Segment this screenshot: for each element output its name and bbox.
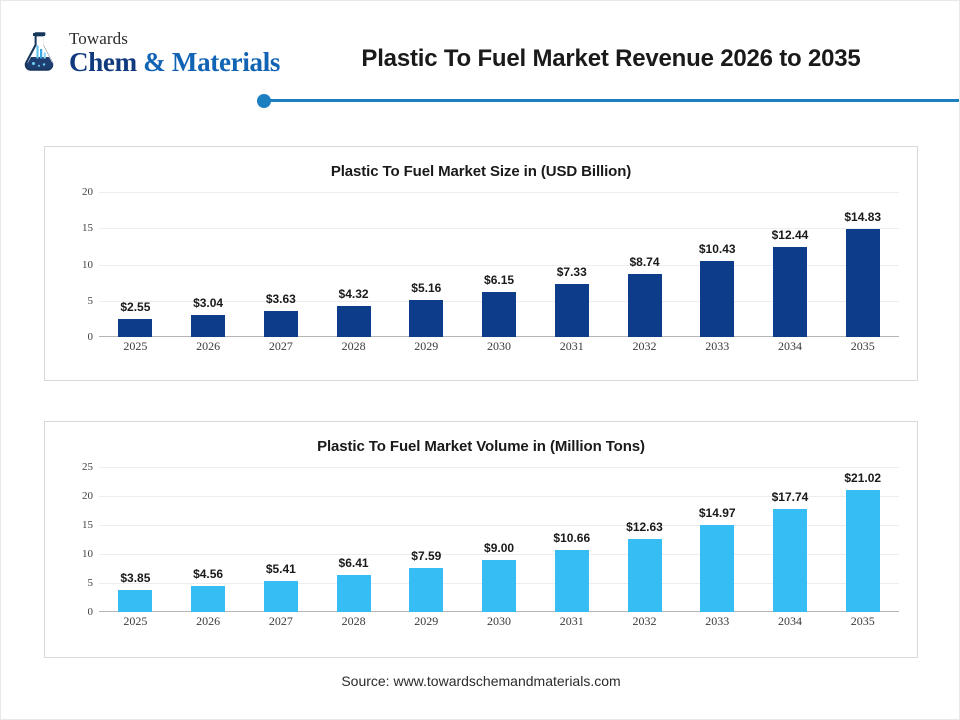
bar[interactable] bbox=[337, 306, 371, 337]
x-axis-tick-label: 2027 bbox=[244, 614, 317, 629]
bar-value-label: $9.00 bbox=[484, 541, 514, 555]
header-divider bbox=[1, 93, 960, 109]
flask-icon bbox=[15, 29, 63, 77]
bar-value-label: $12.63 bbox=[626, 520, 663, 534]
y-axis-tick-label: 20 bbox=[82, 186, 93, 198]
bar-value-label: $5.41 bbox=[266, 562, 296, 576]
bar[interactable] bbox=[118, 319, 152, 337]
chart-panel-market-size: Plastic To Fuel Market Size in (USD Bill… bbox=[44, 146, 918, 381]
divider-line bbox=[269, 99, 960, 102]
bar-value-label: $21.02 bbox=[844, 471, 881, 485]
bar-slot: $6.15 bbox=[463, 192, 536, 337]
x-axis-tick-label: 2033 bbox=[681, 614, 754, 629]
y-axis-tick-label: 10 bbox=[82, 259, 93, 271]
source-caption: Source: www.towardschemandmaterials.com bbox=[1, 673, 960, 689]
bar-slot: $6.41 bbox=[317, 467, 390, 612]
bar[interactable] bbox=[555, 284, 589, 337]
bar[interactable] bbox=[773, 247, 807, 337]
bar-slot: $3.63 bbox=[244, 192, 317, 337]
chart-title: Plastic To Fuel Market Volume in (Millio… bbox=[45, 422, 917, 455]
bar-value-label: $10.43 bbox=[699, 242, 736, 256]
x-axis-tick-label: 2028 bbox=[317, 614, 390, 629]
brand-line-chem-materials: Chem & Materials bbox=[69, 49, 280, 76]
bar[interactable] bbox=[191, 315, 225, 337]
bar-slot: $2.55 bbox=[99, 192, 172, 337]
bar-value-label: $4.56 bbox=[193, 567, 223, 581]
y-axis-tick-label: 10 bbox=[82, 548, 93, 560]
bar[interactable] bbox=[846, 490, 880, 612]
x-axis-tick-label: 2032 bbox=[608, 339, 681, 354]
y-axis-ticks: 2520151050 bbox=[63, 467, 99, 612]
bar[interactable] bbox=[628, 539, 662, 612]
bar[interactable] bbox=[555, 550, 589, 612]
bar-slot: $5.16 bbox=[390, 192, 463, 337]
y-axis-tick-label: 5 bbox=[88, 577, 94, 589]
bar-slot: $7.33 bbox=[535, 192, 608, 337]
bar[interactable] bbox=[846, 229, 880, 337]
bar-value-label: $5.16 bbox=[411, 281, 441, 295]
x-axis-tick-label: 2031 bbox=[535, 614, 608, 629]
brand-line-towards: Towards bbox=[69, 30, 280, 47]
y-axis-tick-label: 25 bbox=[82, 461, 93, 473]
bar[interactable] bbox=[700, 525, 734, 612]
bar-slot: $4.32 bbox=[317, 192, 390, 337]
bar-slot: $21.02 bbox=[826, 467, 899, 612]
bar-slot: $8.74 bbox=[608, 192, 681, 337]
bar[interactable] bbox=[191, 586, 225, 612]
y-axis-tick-label: 0 bbox=[88, 606, 94, 618]
bar-value-label: $12.44 bbox=[772, 228, 809, 242]
plot-area: 2520151050 $3.85$4.56$5.41$6.41$7.59$9.0… bbox=[63, 467, 899, 637]
bar-value-label: $14.97 bbox=[699, 506, 736, 520]
bar[interactable] bbox=[264, 311, 298, 337]
bar-slot: $17.74 bbox=[754, 467, 827, 612]
bar[interactable] bbox=[264, 581, 298, 612]
bar-slot: $5.41 bbox=[244, 467, 317, 612]
y-axis-tick-label: 15 bbox=[82, 519, 93, 531]
x-axis-ticks: 2025202620272028202920302031203220332034… bbox=[99, 339, 899, 354]
y-axis-tick-label: 0 bbox=[88, 331, 94, 343]
x-axis-tick-label: 2028 bbox=[317, 339, 390, 354]
bar-slot: $14.83 bbox=[826, 192, 899, 337]
bar-slot: $3.85 bbox=[99, 467, 172, 612]
x-axis-tick-label: 2034 bbox=[754, 614, 827, 629]
bar-slot: $10.43 bbox=[681, 192, 754, 337]
bar-slot: $3.04 bbox=[172, 192, 245, 337]
x-axis-tick-label: 2029 bbox=[390, 614, 463, 629]
divider-dot bbox=[257, 94, 271, 108]
chart-panel-market-volume: Plastic To Fuel Market Volume in (Millio… bbox=[44, 421, 918, 658]
bar[interactable] bbox=[773, 509, 807, 612]
bar-value-label: $2.55 bbox=[120, 300, 150, 314]
x-axis-ticks: 2025202620272028202920302031203220332034… bbox=[99, 614, 899, 629]
bar-value-label: $10.66 bbox=[553, 531, 590, 545]
y-axis-tick-label: 20 bbox=[82, 490, 93, 502]
plot-area: 20151050 $2.55$3.04$3.63$4.32$5.16$6.15$… bbox=[63, 192, 899, 362]
x-axis-tick-label: 2031 bbox=[535, 339, 608, 354]
x-axis-tick-label: 2033 bbox=[681, 339, 754, 354]
bar[interactable] bbox=[409, 568, 443, 612]
x-axis-tick-label: 2029 bbox=[390, 339, 463, 354]
bar-value-label: $7.59 bbox=[411, 549, 441, 563]
bar-value-label: $14.83 bbox=[844, 210, 881, 224]
bar-value-label: $3.85 bbox=[120, 571, 150, 585]
x-axis-tick-label: 2032 bbox=[608, 614, 681, 629]
brand-word-rest: & Materials bbox=[137, 47, 280, 77]
page-header: Towards Chem & Materials Plastic To Fuel… bbox=[1, 1, 960, 111]
infographic-page: Towards Chem & Materials Plastic To Fuel… bbox=[0, 0, 960, 720]
bar-series: $3.85$4.56$5.41$6.41$7.59$9.00$10.66$12.… bbox=[99, 467, 899, 612]
bar[interactable] bbox=[337, 575, 371, 612]
x-axis-tick-label: 2034 bbox=[754, 339, 827, 354]
bar-value-label: $3.04 bbox=[193, 296, 223, 310]
bar[interactable] bbox=[482, 560, 516, 612]
chart-title: Plastic To Fuel Market Size in (USD Bill… bbox=[45, 147, 917, 180]
x-axis-tick-label: 2026 bbox=[172, 339, 245, 354]
bar-value-label: $3.63 bbox=[266, 292, 296, 306]
bar[interactable] bbox=[409, 300, 443, 337]
bar-value-label: $7.33 bbox=[557, 265, 587, 279]
x-axis-tick-label: 2035 bbox=[826, 339, 899, 354]
bar-slot: $14.97 bbox=[681, 467, 754, 612]
bar[interactable] bbox=[118, 590, 152, 612]
bar-slot: $9.00 bbox=[463, 467, 536, 612]
x-axis-tick-label: 2030 bbox=[463, 339, 536, 354]
page-title: Plastic To Fuel Market Revenue 2026 to 2… bbox=[301, 45, 921, 73]
bar-value-label: $6.41 bbox=[339, 556, 369, 570]
y-axis-tick-label: 15 bbox=[82, 222, 93, 234]
x-axis-tick-label: 2027 bbox=[244, 339, 317, 354]
bar[interactable] bbox=[628, 274, 662, 337]
bar-value-label: $4.32 bbox=[339, 287, 369, 301]
x-axis-tick-label: 2025 bbox=[99, 614, 172, 629]
bar-value-label: $17.74 bbox=[772, 490, 809, 504]
y-axis-tick-label: 5 bbox=[88, 295, 94, 307]
bar-slot: $10.66 bbox=[535, 467, 608, 612]
bar-value-label: $8.74 bbox=[629, 255, 659, 269]
x-axis-tick-label: 2025 bbox=[99, 339, 172, 354]
bar-slot: $12.44 bbox=[754, 192, 827, 337]
x-axis-tick-label: 2026 bbox=[172, 614, 245, 629]
x-axis-tick-label: 2030 bbox=[463, 614, 536, 629]
brand-logo: Towards Chem & Materials bbox=[15, 29, 280, 77]
bar-slot: $4.56 bbox=[172, 467, 245, 612]
y-axis-ticks: 20151050 bbox=[63, 192, 99, 337]
brand-word-chem: Chem bbox=[69, 47, 137, 77]
bar-slot: $7.59 bbox=[390, 467, 463, 612]
bar-value-label: $6.15 bbox=[484, 273, 514, 287]
bar[interactable] bbox=[700, 261, 734, 337]
x-axis-tick-label: 2035 bbox=[826, 614, 899, 629]
bar-series: $2.55$3.04$3.63$4.32$5.16$6.15$7.33$8.74… bbox=[99, 192, 899, 337]
bar[interactable] bbox=[482, 292, 516, 337]
brand-wordmark: Towards Chem & Materials bbox=[69, 30, 280, 76]
bar-slot: $12.63 bbox=[608, 467, 681, 612]
